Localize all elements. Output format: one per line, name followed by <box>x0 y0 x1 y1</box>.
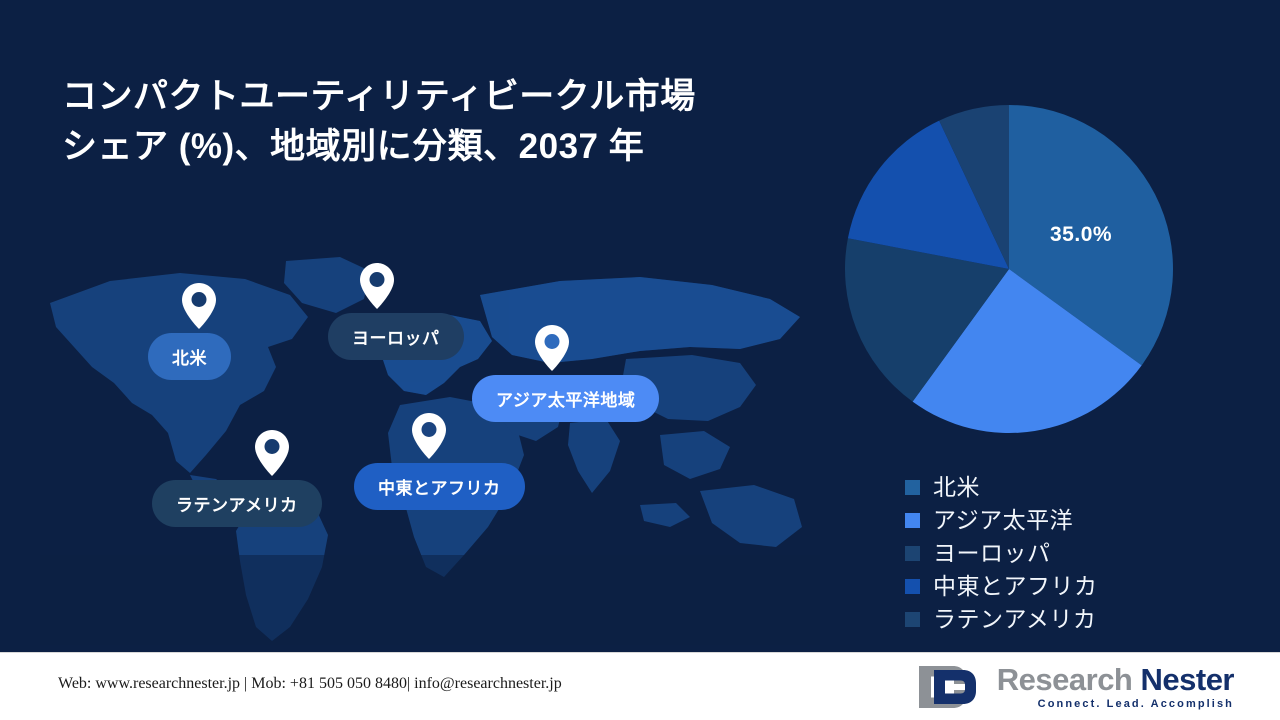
map-label-asia-pacific[interactable]: アジア太平洋地域 <box>472 375 659 422</box>
map-pin-icon <box>255 430 289 476</box>
world-map-panel: 北米 ヨーロッパ アジア太平洋地域 中東とアフリカ <box>40 255 820 645</box>
legend-label: ラテンアメリカ <box>933 608 1096 631</box>
research-nester-logo-icon <box>913 662 987 712</box>
map-label-europe[interactable]: ヨーロッパ <box>328 313 464 360</box>
map-pin-icon <box>182 283 216 329</box>
legend-item-asia-pacific[interactable]: アジア太平洋 <box>905 505 1098 535</box>
chart-legend: 北米 アジア太平洋 ヨーロッパ 中東とアフリカ ラテンアメリカ <box>905 472 1098 634</box>
map-label-latin-america[interactable]: ラテンアメリカ <box>152 480 322 527</box>
pie-chart: 35.0% <box>818 78 1200 460</box>
legend-label: 北米 <box>933 476 980 499</box>
logo-main-line: Research Nester <box>997 664 1234 697</box>
legend-swatch-icon <box>905 513 920 528</box>
slide-canvas: コンパクトユーティリティビークル市場 シェア (%)、地域別に分類、2037 年 <box>0 0 1280 720</box>
pie-slices <box>844 104 1174 434</box>
logo-tagline: Connect. Lead. Accomplish <box>997 698 1234 710</box>
legend-label: ヨーロッパ <box>933 542 1051 565</box>
legend-swatch-icon <box>905 579 920 594</box>
map-pin-icon <box>412 413 446 459</box>
map-label-middle-east-africa[interactable]: 中東とアフリカ <box>354 463 525 510</box>
page-title: コンパクトユーティリティビークル市場 シェア (%)、地域別に分類、2037 年 <box>62 72 822 171</box>
map-pin-icon <box>535 325 569 371</box>
legend-item-north-america[interactable]: 北米 <box>905 472 1098 502</box>
map-pin-icon <box>360 263 394 309</box>
legend-item-europe[interactable]: ヨーロッパ <box>905 538 1098 568</box>
logo-text-research: Research <box>997 662 1133 697</box>
map-label-north-america[interactable]: 北米 <box>148 333 231 380</box>
pie-slice-label-north-america: 35.0% <box>1050 223 1112 247</box>
logo-wordmark: Research Nester Connect. Lead. Accomplis… <box>997 664 1234 711</box>
legend-item-latin-america[interactable]: ラテンアメリカ <box>905 604 1098 634</box>
legend-swatch-icon <box>905 546 920 561</box>
legend-label: 中東とアフリカ <box>933 575 1098 598</box>
legend-swatch-icon <box>905 480 920 495</box>
legend-item-middle-east-africa[interactable]: 中東とアフリカ <box>905 571 1098 601</box>
footer-contact-text: Web: www.researchnester.jp | Mob: +81 50… <box>58 675 562 693</box>
footer-bar: Web: www.researchnester.jp | Mob: +81 50… <box>0 652 1280 720</box>
legend-swatch-icon <box>905 612 920 627</box>
logo-text-nester: Nester <box>1141 662 1235 697</box>
legend-label: アジア太平洋 <box>933 509 1073 532</box>
brand-logo: Research Nester Connect. Lead. Accomplis… <box>913 662 1234 712</box>
